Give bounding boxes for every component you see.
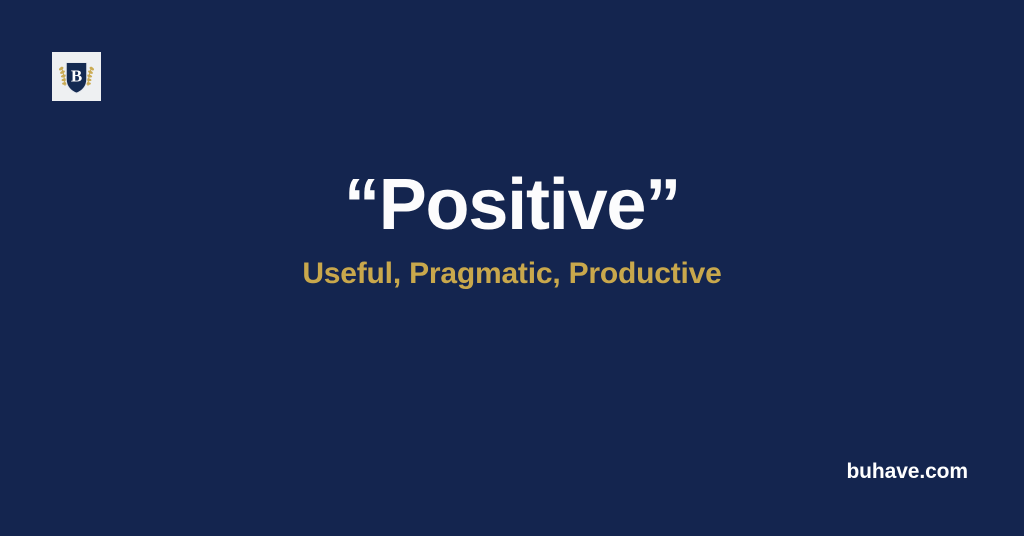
site-url-mark[interactable]: buhave.com <box>846 460 968 484</box>
brand-logo[interactable]: B <box>52 52 101 101</box>
page-subtitle: Useful, Pragmatic, Productive <box>0 257 1024 292</box>
slide-canvas: B “Positive” Useful, Pragmatic, Producti… <box>0 0 1024 536</box>
shield-logo-icon: B <box>52 52 101 101</box>
logo-letter: B <box>71 67 82 86</box>
hero-block: “Positive” Useful, Pragmatic, Productive <box>0 168 1024 291</box>
page-title: “Positive” <box>0 168 1024 243</box>
